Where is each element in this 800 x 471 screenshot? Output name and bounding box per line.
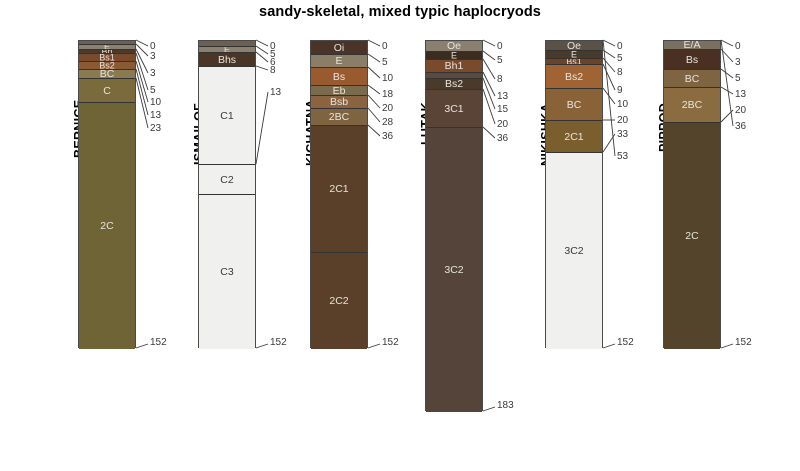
depth-tick-label: 9 [617,86,623,96]
profile-column: OeEBs1Bs2BC2C13C2 [545,40,603,348]
soil-horizon[interactable]: C3 [199,195,255,349]
horizon-label: C [79,85,135,96]
horizon-label: Bs [664,54,720,65]
horizon-label: Bs2 [426,79,482,89]
depth-tick-label: 3 [735,58,741,68]
horizon-label: E [311,56,367,67]
horizon-label: C2 [199,174,255,185]
soil-horizon[interactable]: E [426,52,482,60]
soil-horizon[interactable]: Bs2 [79,62,135,70]
depth-tick-label: 20 [735,106,746,116]
horizon-label: 2C1 [546,131,602,142]
depth-tick-label: 5 [617,54,623,64]
soil-horizon[interactable]: 3C2 [546,153,602,349]
horizon-label: Bs [311,71,367,82]
soil-horizon[interactable]: E [546,51,602,59]
soil-horizon[interactable]: Oe [546,41,602,51]
horizon-label: 2C2 [311,296,367,307]
depth-tick-label: 33 [617,130,628,140]
profile-column: EBhBs1Bs2BCC2C [78,40,136,348]
depth-tick-label: 53 [617,152,628,162]
depth-tick-label: 10 [617,100,628,110]
horizon-label: 2BC [664,100,720,111]
depth-tick-label: 5 [382,58,388,68]
horizon-label: Oe [426,41,482,51]
horizon-label: E [426,52,482,60]
depth-tick-label-bottom: 152 [270,338,287,348]
horizon-label: 3C1 [426,103,482,114]
depth-tick-label-bottom: 152 [735,338,752,348]
horizon-label: Oi [311,42,367,53]
horizon-label: 2BC [311,112,367,123]
soil-horizon[interactable]: 3C1 [426,90,482,128]
depth-tick-label: 5 [150,86,156,96]
soil-horizon[interactable]: Bhs [199,53,255,67]
depth-tick-label: 8 [497,75,503,85]
depth-tick-label: 13 [497,92,508,102]
soil-horizon[interactable]: Bs [311,68,367,86]
horizon-label: C1 [199,110,255,121]
horizon-label: 3C2 [426,265,482,276]
soil-horizon[interactable]: C1 [199,67,255,165]
horizon-label: C3 [199,267,255,278]
depth-tick-label: 0 [617,42,623,52]
depth-tick-label: 10 [382,74,393,84]
horizon-label: Bsb [311,97,367,108]
horizon-label: E [546,51,602,59]
soil-horizon[interactable]: Bs1 [79,54,135,62]
depth-tick-label: 13 [270,88,281,98]
soil-horizon[interactable]: 2BC [311,109,367,126]
depth-leader-lines [721,40,781,408]
depth-tick-label: 36 [735,122,746,132]
depth-tick-label: 10 [150,98,161,108]
horizon-label: BC [546,99,602,110]
soil-horizon[interactable]: BC [664,70,720,88]
depth-tick-label: 23 [150,124,161,134]
depth-leader-lines [256,40,316,408]
depth-tick-label-bottom: 152 [150,338,167,348]
soil-horizon[interactable]: Bs2 [546,65,602,89]
depth-tick-label: 8 [270,66,276,76]
soil-horizon[interactable]: Oe [426,41,482,52]
horizon-label: BC [79,70,135,79]
depth-tick-label: 20 [497,120,508,130]
depth-tick-label: 20 [382,104,393,114]
depth-tick-label: 20 [617,116,628,126]
horizon-label: E/A [664,41,720,50]
depth-tick-label: 13 [735,90,746,100]
depth-tick-label: 13 [150,111,161,121]
soil-horizon[interactable]: 2C2 [311,253,367,349]
depth-tick-label: 8 [617,68,623,78]
horizon-label: 3C2 [546,246,602,257]
soil-horizon[interactable]: Eb [311,86,367,96]
depth-tick-label: 3 [150,52,156,62]
depth-tick-label: 5 [735,74,741,84]
horizon-label: 2C [79,221,135,232]
soil-horizon[interactable]: 2C [79,103,135,349]
soil-horizon[interactable]: E [311,55,367,68]
soil-horizon[interactable]: 2C1 [546,121,602,153]
horizon-label: Eb [311,86,367,96]
soil-horizon[interactable]: 2C1 [311,126,367,253]
depth-tick-label-bottom: 183 [497,401,514,411]
horizon-label: Bhs [199,54,255,65]
soil-horizon[interactable]: E/A [664,41,720,50]
soil-horizon[interactable]: BC [546,89,602,121]
depth-tick-label: 36 [497,134,508,144]
depth-tick-label: 28 [382,118,393,128]
soil-horizon[interactable]: Bh1 [426,60,482,73]
horizon-label: Bh1 [426,61,482,72]
horizon-label: Bs2 [546,71,602,82]
profile-column: OiEBsEbBsb2BC2C12C2 [310,40,368,348]
profile-column: E/ABsBC2BC2C [663,40,721,348]
depth-leader-lines [368,40,428,408]
soil-horizon[interactable]: 2BC [664,88,720,123]
soil-horizon[interactable]: Bs2 [426,79,482,90]
horizon-label: 2C1 [311,184,367,195]
depth-leader-lines [136,40,196,408]
depth-tick-label: 5 [497,56,503,66]
depth-tick-label: 0 [735,42,741,52]
depth-tick-label: 36 [382,132,393,142]
soil-horizon[interactable]: C2 [199,165,255,195]
soil-horizon[interactable]: Oi [311,41,367,55]
soil-horizon[interactable]: Bsb [311,96,367,109]
horizon-label: Oe [546,41,602,51]
soil-horizon[interactable]: Bs [664,50,720,70]
depth-tick-label-bottom: 152 [617,338,634,348]
profile-column: EBhsC1C2C3 [198,40,256,348]
depth-tick-label-bottom: 152 [382,338,399,348]
soil-horizon[interactable]: C [79,79,135,103]
soil-horizon[interactable]: BC [79,70,135,79]
depth-tick-label: 3 [150,69,156,79]
horizon-label: 2C [664,231,720,242]
depth-leader-lines [603,40,663,408]
depth-tick-label: 0 [497,42,503,52]
page-title: sandy-skeletal, mixed typic haplocryods [0,4,800,20]
soil-horizon[interactable]: 2C [664,123,720,349]
horizon-label: BC [664,73,720,84]
soil-horizon[interactable]: 3C2 [426,128,482,412]
profile-column: OeEBh1Bs23C13C2 [425,40,483,411]
horizon-label: Bs1 [79,54,135,62]
horizon-label: Bs2 [79,62,135,70]
depth-tick-label: 18 [382,90,393,100]
depth-tick-label: 0 [382,42,388,52]
depth-tick-label: 15 [497,105,508,115]
